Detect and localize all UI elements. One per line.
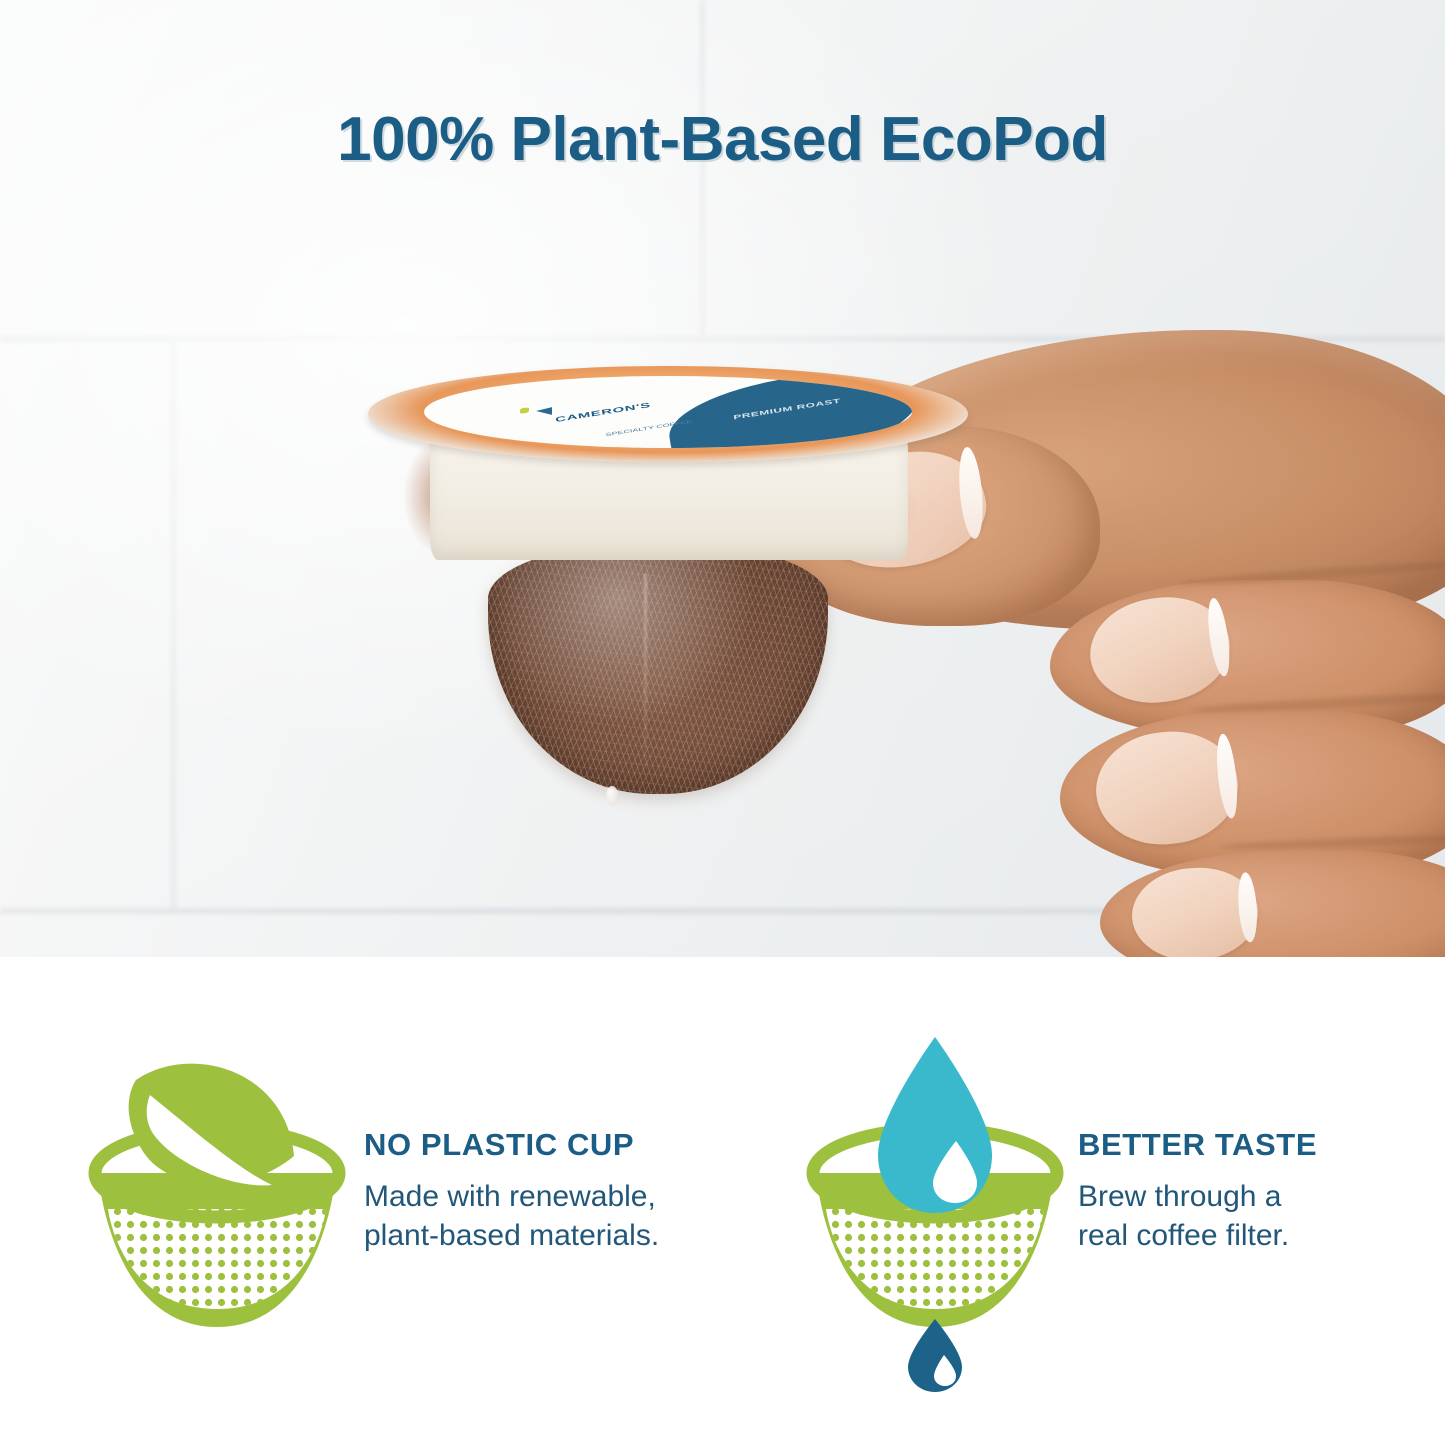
feature-no-plastic-cup: NO PLASTIC CUP Made with renewable, plan…: [0, 957, 722, 1445]
pod-coffee-filter-body: [488, 544, 828, 794]
feature-better-taste: BETTER TASTE Brew through a real coffee …: [722, 957, 1444, 1445]
water-drop-through-filter-basket-icon: [790, 1023, 1080, 1353]
feature-title: NO PLASTIC CUP: [364, 1127, 704, 1163]
feature-title: BETTER TASTE: [1078, 1127, 1408, 1163]
pod-leaf-mark-icon: [520, 408, 529, 413]
pod-lid-face: CAMERON'S SPECIALTY COFFEE PREMIUM ROAST: [424, 376, 912, 448]
tile-grout-line: [171, 342, 176, 914]
pod-arrow-icon: [536, 407, 552, 415]
filter-fiber-texture: [488, 544, 828, 794]
feature-description: Made with renewable, plant-based materia…: [364, 1177, 704, 1255]
pod-lid-rim: CAMERON'S SPECIALTY COFFEE PREMIUM ROAST: [368, 366, 968, 462]
feature-description-line: real coffee filter.: [1078, 1216, 1408, 1255]
feature-description-line: Made with renewable,: [364, 1177, 704, 1216]
feature-description-line: plant-based materials.: [364, 1216, 704, 1255]
hero-photo: CAMERON'S SPECIALTY COFFEE PREMIUM ROAST…: [0, 0, 1445, 957]
feature-description-line: Brew through a: [1078, 1177, 1408, 1216]
leaf-in-filter-basket-icon: [72, 1023, 362, 1353]
feature-text-block: NO PLASTIC CUP Made with renewable, plan…: [364, 1127, 704, 1255]
feature-row: NO PLASTIC CUP Made with renewable, plan…: [0, 957, 1445, 1445]
pod-drip: [606, 786, 618, 806]
filter-seam: [644, 574, 647, 769]
coffee-pod: CAMERON'S SPECIALTY COFFEE PREMIUM ROAST: [368, 366, 968, 796]
feature-description: Brew through a real coffee filter.: [1078, 1177, 1408, 1255]
product-marketing-image: CAMERON'S SPECIALTY COFFEE PREMIUM ROAST…: [0, 0, 1445, 1445]
feature-text-block: BETTER TASTE Brew through a real coffee …: [1078, 1127, 1408, 1255]
page-title: 100% Plant-Based EcoPod: [0, 104, 1445, 175]
